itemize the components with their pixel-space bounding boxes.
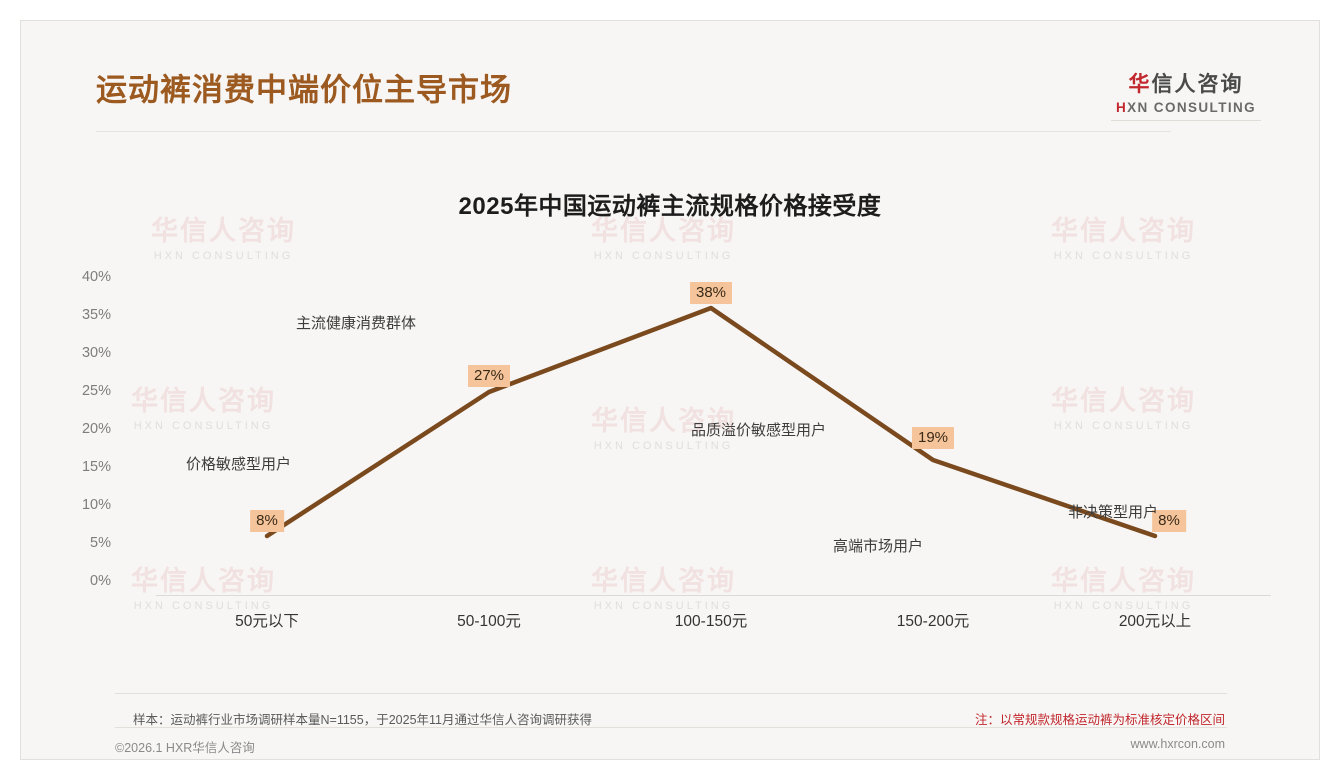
company-logo: 华信人咨询 HXN CONSULTING [1111,73,1261,121]
logo-en-rest: XN CONSULTING [1127,100,1256,115]
watermark: 华信人咨询HXN CONSULTING [591,559,736,612]
y-axis-tick: 0% [41,573,111,589]
copyright-text: ©2026.1 HXR华信人咨询 [115,737,255,756]
watermark: 华信人咨询HXN CONSULTING [131,379,276,432]
watermark: 华信人咨询HXN CONSULTING [1051,559,1196,612]
watermark-text: 华信人咨询 [1051,386,1196,416]
watermark-subtext: HXN CONSULTING [1051,420,1196,432]
y-axis-tick: 5% [41,535,111,551]
data-label: 38% [690,282,732,304]
watermark-text: 华信人咨询 [131,566,276,596]
chart-annotation: 高端市场用户 [833,535,923,556]
x-axis-tick: 50-100元 [457,609,521,631]
website-link[interactable]: www.hxrcon.com [1131,737,1225,751]
x-axis-tick: 50元以下 [235,609,299,631]
watermark-subtext: HXN CONSULTING [1051,250,1196,262]
chart-annotation: 主流健康消费群体 [296,312,416,333]
watermark-text: 华信人咨询 [591,566,736,596]
logo-en-accent-char: H [1116,100,1127,115]
chart-annotation: 品质溢价敏感型用户 [691,419,826,440]
y-axis-tick: 15% [41,459,111,475]
y-axis-tick: 25% [41,383,111,399]
data-label: 27% [468,365,510,387]
y-axis-tick: 40% [41,269,111,285]
watermark-subtext: HXN CONSULTING [591,250,736,262]
sample-note: 样本：运动裤行业市场调研样本量N=1155，于2025年11月通过华信人咨询调研… [133,709,592,728]
watermark-text: 华信人咨询 [131,386,276,416]
logo-chinese-rest: 信人咨询 [1152,73,1244,96]
x-axis-tick: 200元以上 [1119,609,1191,631]
logo-accent-char: 华 [1129,73,1152,96]
methodology-note: 注：以常规款规格运动裤为标准核定价格区间 [975,709,1225,728]
logo-english-text: HXN CONSULTING [1111,100,1261,115]
y-axis-tick: 10% [41,497,111,513]
x-axis-tick: 150-200元 [897,609,969,631]
data-label: 8% [250,510,284,532]
footer-divider-bottom [115,727,1227,728]
footer-divider-top [115,693,1227,694]
logo-divider [1111,120,1261,121]
watermark: 华信人咨询HXN CONSULTING [1051,379,1196,432]
watermark-subtext: HXN CONSULTING [131,420,276,432]
page-title: 运动裤消费中端价位主导市场 [96,65,512,110]
chart-annotation: 非决策型用户 [1068,501,1158,522]
slide-header: 运动裤消费中端价位主导市场 华信人咨询 HXN CONSULTING [21,21,1319,127]
x-axis-line [156,595,1271,596]
watermark-text: 华信人咨询 [1051,566,1196,596]
y-axis-tick: 30% [41,345,111,361]
y-axis-tick: 20% [41,421,111,437]
watermark-subtext: HXN CONSULTING [591,440,736,452]
watermark-subtext: HXN CONSULTING [151,250,296,262]
logo-chinese-text: 华信人咨询 [1111,73,1261,97]
x-axis-tick: 100-150元 [675,609,747,631]
data-label: 19% [912,427,954,449]
chart-annotation: 价格敏感型用户 [186,453,291,474]
chart-title: 2025年中国运动裤主流规格价格接受度 [21,186,1319,221]
header-divider [96,131,1171,132]
slide-canvas: 运动裤消费中端价位主导市场 华信人咨询 HXN CONSULTING 华信人咨询… [20,20,1320,760]
watermark: 华信人咨询HXN CONSULTING [131,559,276,612]
y-axis-tick: 35% [41,307,111,323]
